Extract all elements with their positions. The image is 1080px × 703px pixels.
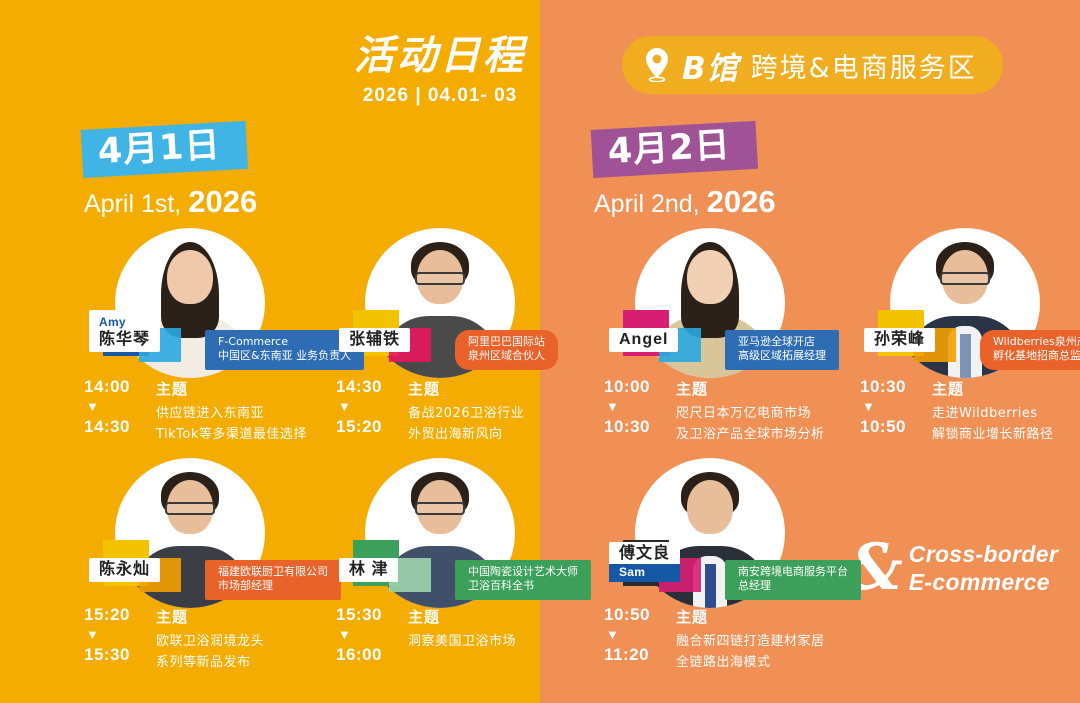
down-arrow-icon: ▼	[338, 400, 404, 413]
speaker-name-cn: 张辅铁	[349, 331, 400, 348]
speaker-name-en: Amy	[99, 315, 126, 329]
day2-badge: 4月2日	[591, 121, 758, 178]
logo-line-1: Cross-border	[909, 541, 1058, 567]
speaker-org-line-2: 中国区&东南亚 业务负责人	[218, 349, 351, 364]
session-topic-line-1: 融合新四链打造建材家居	[676, 633, 825, 652]
session-end-time: 11:20	[604, 646, 672, 663]
session-topic-line-1: 走进Wildberries	[932, 405, 1054, 424]
session-start-time: 14:00	[84, 378, 152, 395]
session-topic-label: 主题	[156, 606, 264, 627]
session-times: 14:00▼14:30	[84, 378, 152, 445]
session-topic-line-1: 欧联卫浴润境龙头	[156, 633, 264, 652]
down-arrow-icon: ▼	[338, 628, 404, 641]
cross-border-logo: & Cross-border E-commerce	[845, 540, 1058, 596]
speaker-title-tag: 阿里巴巴国际站泉州区域合伙人	[455, 330, 558, 370]
speaker-portrait-wrap: 林 津中国陶瓷设计艺术大师卫浴百科全书	[365, 458, 515, 608]
session-topic-label: 主题	[408, 606, 516, 627]
speaker-org-line-1: 中国陶瓷设计艺术大师	[468, 565, 578, 580]
session-entry: 15:30▼16:00主题洞察美国卫浴市场	[336, 606, 516, 663]
day2-date-en: April 2nd,	[594, 190, 700, 219]
session-end-time: 15:30	[84, 646, 152, 663]
session-times: 10:50▼11:20	[604, 606, 672, 673]
speaker-name-cn: 林 津	[349, 561, 388, 578]
speaker-title-tag: 福建欧联厨卫有限公司市场部经理	[205, 560, 341, 600]
speaker-name-cn: 陈华琴	[99, 331, 150, 348]
speaker-card: 陈永灿福建欧联厨卫有限公司市场部经理	[80, 458, 330, 608]
session-topic-label: 主题	[408, 378, 524, 399]
session-times: 15:20▼15:30	[84, 606, 152, 673]
speaker-name-cn: 傅文良	[619, 545, 670, 562]
session-topic-line-2: 全链路出海模式	[676, 654, 825, 673]
speaker-org-line-2: 卫浴百科全书	[468, 579, 578, 594]
speaker-card: 张辅铁阿里巴巴国际站泉州区域合伙人	[330, 228, 580, 378]
speaker-title-tag: 亚马逊全球开店高级区域拓展经理	[725, 330, 839, 370]
event-title-block: 活动日程 2026 | 04.01- 03	[345, 36, 535, 107]
speaker-portrait-wrap: 孙荣峰Wildberries泉州产业孵化基地招商总监	[890, 228, 1040, 378]
speaker-portrait-wrap: 陈永灿福建欧联厨卫有限公司市场部经理	[115, 458, 265, 608]
session-topic: 主题备战2026卫浴行业外贸出海新风向	[408, 378, 524, 445]
cross-border-logo-text: Cross-border E-commerce	[909, 540, 1058, 596]
speaker-org-line-1: 福建欧联厨卫有限公司	[218, 565, 328, 580]
hall-name: 跨境&电商服务区	[751, 46, 977, 85]
session-topic-line-2: TikTok等多渠道最佳选择	[156, 426, 307, 445]
session-times: 10:30▼10:50	[860, 378, 928, 445]
location-pin-icon	[644, 48, 670, 82]
session-topic-line-2: 外贸出海新风向	[408, 426, 524, 445]
speaker-name-tag: Angel	[609, 328, 678, 352]
event-dates: 2026 | 04.01- 03	[345, 85, 535, 107]
session-times: 10:00▼10:30	[604, 378, 672, 445]
speaker-portrait-wrap: 张辅铁阿里巴巴国际站泉州区域合伙人	[365, 228, 515, 378]
day1-date-en-row: April 1st, 2026	[84, 184, 257, 220]
session-start-time: 14:30	[336, 378, 404, 395]
session-topic-line-1: 咫尺日本万亿电商市场	[676, 405, 825, 424]
hall-banner: B馆 跨境&电商服务区	[622, 36, 1003, 94]
session-end-time: 15:20	[336, 418, 404, 435]
speaker-org-line-2: 总经理	[738, 579, 848, 594]
down-arrow-icon: ▼	[86, 400, 152, 413]
speaker-card: Amy陈华琴F-Commerce中国区&东南亚 业务负责人	[80, 228, 330, 378]
session-start-time: 10:30	[860, 378, 928, 395]
speaker-portrait-wrap: 傅文良Sam南安跨境电商服务平台总经理	[635, 458, 785, 608]
speaker-name-cn: 孙荣峰	[874, 331, 925, 348]
day1-badge: 4月1日	[81, 121, 248, 178]
session-end-time: 16:00	[336, 646, 404, 663]
down-arrow-icon: ▼	[862, 400, 928, 413]
session-topic-line-2: 系列等新品发布	[156, 654, 264, 673]
speaker-name-en: Sam	[609, 564, 680, 582]
speaker-name-tag: 孙荣峰	[864, 328, 935, 352]
speaker-card: Angel亚马逊全球开店高级区域拓展经理	[600, 228, 850, 378]
speaker-card: 林 津中国陶瓷设计艺术大师卫浴百科全书	[330, 458, 580, 608]
speaker-title-tag: 中国陶瓷设计艺术大师卫浴百科全书	[455, 560, 591, 600]
session-topic-line-1: 备战2026卫浴行业	[408, 405, 524, 424]
session-topic-line-1: 供应链进入东南亚	[156, 405, 307, 424]
day2-year: 2026	[707, 184, 776, 220]
session-topic: 主题走进Wildberries解锁商业增长新路径	[932, 378, 1054, 445]
session-entry: 10:00▼10:30主题咫尺日本万亿电商市场及卫浴产品全球市场分析	[604, 378, 825, 445]
session-start-time: 15:30	[336, 606, 404, 623]
session-topic-label: 主题	[156, 378, 307, 399]
session-topic: 主题融合新四链打造建材家居全链路出海模式	[676, 606, 825, 673]
speaker-org-line-2: 孵化基地招商总监	[993, 349, 1080, 364]
session-entry: 14:30▼15:20主题备战2026卫浴行业外贸出海新风向	[336, 378, 524, 445]
speaker-title-tag: 南安跨境电商服务平台总经理	[725, 560, 861, 600]
day1-date-en: April 1st,	[84, 190, 181, 219]
session-entry: 10:30▼10:50主题走进Wildberries解锁商业增长新路径	[860, 378, 1054, 445]
session-topic-label: 主题	[676, 606, 825, 627]
event-title: 活动日程	[345, 36, 535, 76]
session-end-time: 10:30	[604, 418, 672, 435]
down-arrow-icon: ▼	[606, 400, 672, 413]
session-times: 15:30▼16:00	[336, 606, 404, 663]
session-topic-label: 主题	[676, 378, 825, 399]
session-topic: 主题供应链进入东南亚TikTok等多渠道最佳选择	[156, 378, 307, 445]
speaker-card: 傅文良Sam南安跨境电商服务平台总经理	[600, 458, 850, 608]
event-schedule-poster: 活动日程 2026 | 04.01- 03 B馆 跨境&电商服务区 4月1日 A…	[0, 0, 1080, 703]
speaker-org-line-1: 阿里巴巴国际站	[468, 335, 545, 350]
session-topic-line-1: 洞察美国卫浴市场	[408, 633, 516, 652]
session-start-time: 15:20	[84, 606, 152, 623]
session-topic-line-2: 解锁商业增长新路径	[932, 426, 1054, 445]
speaker-name-tag: 林 津	[339, 558, 398, 582]
session-topic-line-2: 及卫浴产品全球市场分析	[676, 426, 825, 445]
day1-header: 4月1日 April 1st, 2026	[82, 130, 257, 220]
speaker-name-tag: 张辅铁	[339, 328, 410, 352]
speaker-org-line-2: 泉州区域合伙人	[468, 349, 545, 364]
speaker-org-line-2: 市场部经理	[218, 579, 328, 594]
session-topic-label: 主题	[932, 378, 1054, 399]
speaker-org-line-1: 亚马逊全球开店	[738, 335, 826, 350]
speaker-org-line-1: 南安跨境电商服务平台	[738, 565, 848, 580]
session-start-time: 10:50	[604, 606, 672, 623]
speaker-name-tag: 陈永灿	[89, 558, 160, 582]
session-entry: 14:00▼14:30主题供应链进入东南亚TikTok等多渠道最佳选择	[84, 378, 307, 445]
speaker-name-en: Angel	[619, 331, 668, 348]
session-times: 14:30▼15:20	[336, 378, 404, 445]
speaker-portrait-wrap: Amy陈华琴F-Commerce中国区&东南亚 业务负责人	[115, 228, 265, 378]
speaker-org-line-1: Wildberries泉州产业	[993, 335, 1080, 350]
speaker-name-tag: Amy陈华琴	[89, 310, 160, 352]
session-end-time: 14:30	[84, 418, 152, 435]
speaker-portrait-wrap: Angel亚马逊全球开店高级区域拓展经理	[635, 228, 785, 378]
speaker-card: 孙荣峰Wildberries泉州产业孵化基地招商总监	[855, 228, 1080, 378]
down-arrow-icon: ▼	[86, 628, 152, 641]
day2-date-en-row: April 2nd, 2026	[594, 184, 776, 220]
session-start-time: 10:00	[604, 378, 672, 395]
session-end-time: 10:50	[860, 418, 928, 435]
speaker-org-line-1: F-Commerce	[218, 335, 351, 350]
session-topic: 主题洞察美国卫浴市场	[408, 606, 516, 663]
logo-line-2: E-commerce	[909, 569, 1050, 595]
speaker-org-line-2: 高级区域拓展经理	[738, 349, 826, 364]
day1-year: 2026	[188, 184, 257, 220]
day2-date-cn: 4月2日	[607, 128, 731, 170]
down-arrow-icon: ▼	[606, 628, 672, 641]
day1-date-cn: 4月1日	[97, 128, 221, 170]
speaker-name-tag: 傅文良Sam	[609, 542, 680, 582]
speaker-name-cn: 陈永灿	[99, 561, 150, 578]
session-topic: 主题咫尺日本万亿电商市场及卫浴产品全球市场分析	[676, 378, 825, 445]
hall-code: B馆	[682, 43, 739, 88]
session-entry: 10:50▼11:20主题融合新四链打造建材家居全链路出海模式	[604, 606, 825, 673]
speaker-title-tag: Wildberries泉州产业孵化基地招商总监	[980, 330, 1080, 370]
day2-header: 4月2日 April 2nd, 2026	[592, 130, 776, 220]
session-topic: 主题欧联卫浴润境龙头系列等新品发布	[156, 606, 264, 673]
session-entry: 15:20▼15:30主题欧联卫浴润境龙头系列等新品发布	[84, 606, 264, 673]
